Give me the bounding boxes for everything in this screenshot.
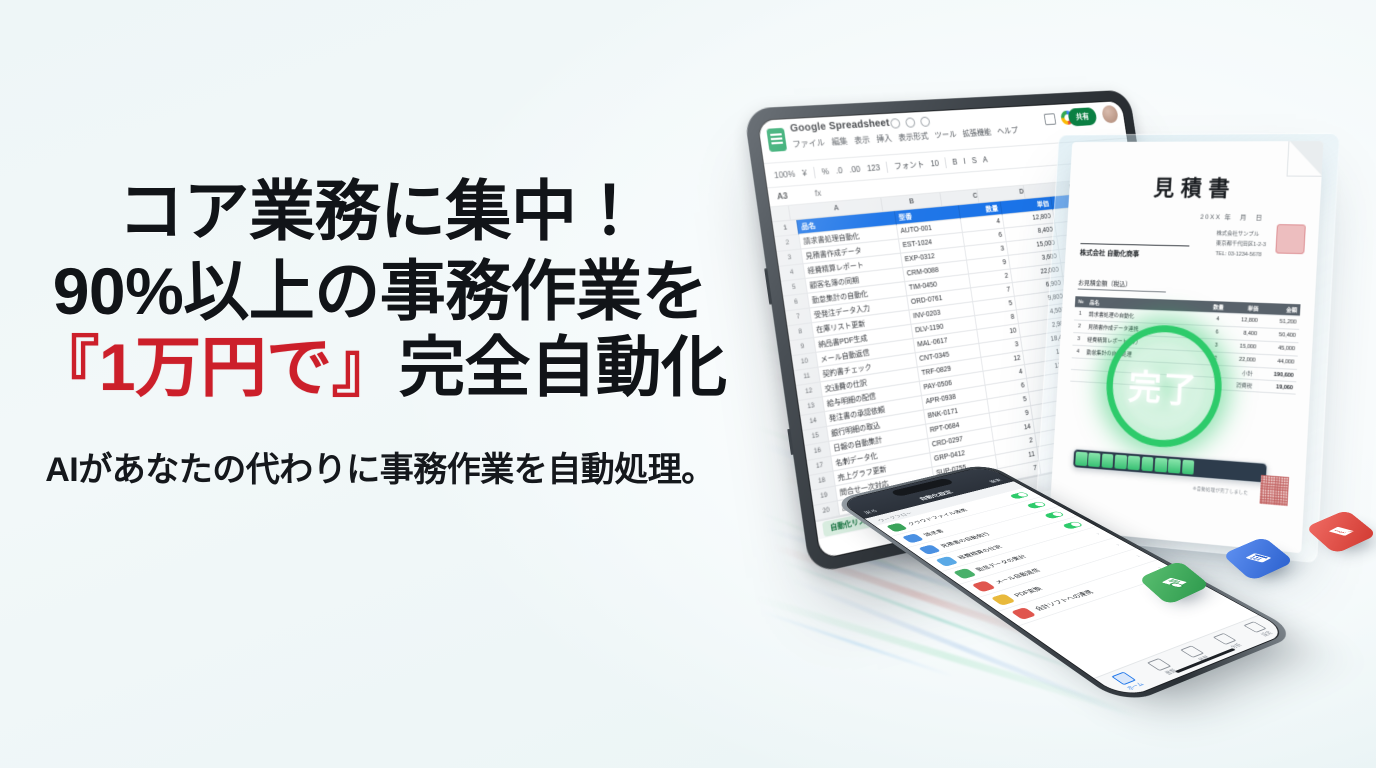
summary-label: 消費税 [1213,379,1257,390]
column-header[interactable]: A [789,198,883,221]
toggle-switch[interactable] [1009,492,1030,500]
phone-tab[interactable]: 分析 [1212,633,1245,650]
table-cell[interactable]: 顧客名簿の同期 [806,268,906,294]
toolbar-item[interactable]: フォント [893,158,925,171]
table-cell[interactable]: 納品書PDF生成 [814,325,913,353]
progress-segment [1128,456,1141,471]
subheadline: AIがあなたの代わりに事務作業を自動処理。 [0,442,760,491]
headline-tail: 完全自動化 [399,334,727,400]
table-cell[interactable]: RPT-0684 [926,413,992,439]
toolbar-item[interactable]: % [821,166,829,176]
present-icon[interactable] [1044,113,1057,125]
phone-tab[interactable]: 書類 [1147,658,1181,677]
doc-search-glyph [1164,577,1184,586]
invoice-summary-row: 消費税19,060 [1070,370,1296,395]
menu-item[interactable]: ファイル [792,137,826,150]
row-number[interactable]: 11 [794,368,821,387]
table-cell[interactable]: CRD-0297 [928,427,994,453]
toolbar-divider [886,161,889,172]
headline-price-accent: 『1万円で』 [33,334,397,400]
line-item-cell: 6 [1206,329,1228,336]
menu-item[interactable]: ツール [934,129,957,141]
phone-tab[interactable]: 設定 [1243,621,1276,638]
table-header-cell[interactable]: 型番 [895,205,961,225]
hero-copy: コア業務に集中！ 90%以上の事務作業を 『1万円で』 完全自動化 AIがあなた… [0,178,760,491]
table-cell[interactable]: 請求書処理自動化 [799,225,899,249]
progress-segment [1114,455,1127,470]
line-item-cell: 3 [1205,342,1227,349]
cloud-icon [920,116,931,126]
app-icon [1011,607,1037,620]
line-item-header-cell: 数量 [1208,302,1230,311]
toggle-switch[interactable] [1043,511,1065,519]
table-cell[interactable]: EXP-0312 [901,247,967,268]
table-cell[interactable]: AUTO-001 [897,219,963,239]
row-number[interactable]: 16 [805,442,832,461]
row-number[interactable]: 6 [783,294,810,312]
invoice-title: 見積書 [1069,171,1322,205]
line-item-header-cell: 単価 [1229,303,1262,312]
progress-segment [1182,460,1195,475]
table-cell[interactable]: メール自動返信 [816,339,915,368]
formula-fx-icon: fx [814,188,822,198]
table-cell[interactable]: 給与明細の配信 [823,382,922,412]
pdf-glyph: PDF [1331,526,1351,535]
app-icon [886,523,908,533]
app-icon [918,545,941,555]
progress-segment [1251,465,1265,480]
headline-line-1: コア業務に集中！ [0,178,760,244]
line-item-cell: 2 [1073,323,1085,329]
toggle-switch[interactable] [1061,521,1083,530]
invoice-total: お見積金額（税込） [1078,277,1167,293]
toolbar-item[interactable]: 123 [866,163,880,173]
menu-item[interactable]: 表示 [854,134,871,146]
line-item-cell: 4 [1072,349,1084,355]
total-label: お見積金額（税込） [1078,280,1132,289]
column-header[interactable]: B [881,193,942,212]
tab-label: 設定 [1258,630,1276,638]
menu-item[interactable]: ヘルプ [996,125,1018,137]
invoice-document: 見積書 20XX 年 月 日 株式会社 自動化商事 株式会社サンプル東京都千代田… [1049,141,1324,553]
table-cell[interactable]: MAL-0617 [914,330,980,353]
table-cell[interactable]: EST-1024 [899,233,965,254]
row-number[interactable]: 17 [807,457,834,476]
menu-item[interactable]: 表示形式 [898,131,929,144]
table-cell[interactable]: 交通費の仕訳 [821,367,920,397]
table-cell[interactable]: PAY-0506 [920,372,986,396]
menu-item[interactable]: 拡張機能 [962,127,992,140]
toolbar-item[interactable]: ¥ [802,168,808,178]
progress-segment [1088,453,1101,468]
sheets-logo-icon [766,128,787,152]
table-cell[interactable]: 経費精算レポート [804,254,904,279]
toolbar-item[interactable]: B [952,157,958,166]
titlebar-icon-group [890,116,931,128]
progress-segment [1168,459,1181,474]
star-icon[interactable] [890,118,901,129]
row-number[interactable]: 8 [787,323,814,341]
line-item-header-cell: № [1075,299,1087,305]
table-cell[interactable]: TRF-0829 [918,358,984,382]
progress-segment [1223,463,1236,478]
chevron-right-icon: › [1114,543,1121,547]
calculator-glyph [1247,553,1268,563]
table-cell[interactable]: 日報の自動集計 [829,425,928,457]
recipient-underline [1080,231,1190,247]
row-number[interactable]: 10 [792,353,819,371]
toolbar-divider [813,166,816,178]
line-item-cell: 12,800 [1228,317,1261,324]
progress-segment [1141,457,1154,472]
row-number[interactable]: 19 [811,486,838,506]
progress-segment [1101,454,1114,469]
invoice-recipient: 株式会社 自動化商事 [1080,231,1191,261]
spreadsheet-menubar[interactable]: ファイル編集表示挿入表示形式ツール拡張機能ヘルプ [792,125,1019,150]
table-cell[interactable]: 契約書チェック [819,353,918,382]
progress-segment [1209,462,1222,477]
row-number[interactable]: 15 [803,427,830,446]
row-number[interactable]: 1 [772,220,799,237]
app-icon [953,568,977,579]
toolbar-item[interactable]: 10 [930,158,939,168]
cell-reference[interactable]: A3 [776,190,806,202]
recipient-name: 株式会社 自動化商事 [1080,248,1190,260]
table-cell[interactable]: 受発注データ入力 [810,296,909,323]
table-cell[interactable]: 発注書の承認依頼 [825,396,924,427]
invoice-issuer: 株式会社サンプル東京都千代田区1-2-3TEL: 03-1234-5678 [1215,229,1267,261]
share-button[interactable]: 共有 [1067,107,1097,126]
toolbar-item[interactable]: I [963,156,966,165]
toolbar-item[interactable]: .00 [849,164,861,174]
app-icon [902,533,924,543]
row-number[interactable]: 18 [809,471,836,491]
toolbar-divider [944,157,947,168]
toolbar-item[interactable]: .0 [835,165,843,175]
line-item-cell: 45,000 [1259,345,1298,353]
hero-banner: コア業務に集中！ 90%以上の事務作業を 『1万円で』 完全自動化 AIがあなた… [0,0,1376,768]
row-number[interactable]: 5 [781,279,808,297]
data-stream [764,611,955,678]
line-item-cell: 8,400 [1227,330,1260,337]
line-item-cell: 2 [1205,355,1227,362]
row-number[interactable]: 3 [777,249,804,266]
app-icon [991,594,1016,606]
hanko-stamp-icon [1275,224,1306,254]
table-cell[interactable]: 見積書作成データ [801,239,901,264]
table-cell[interactable]: 銀行明細の取込 [827,410,926,441]
line-item-cell: 1 [1074,311,1086,317]
table-cell[interactable]: INV-0203 [909,302,975,325]
headline-line-2: 90%以上の事務作業を [0,258,760,324]
table-cell[interactable]: TIM-0450 [905,274,971,296]
device-scene: Google Spreadsheet ファイル編集表示挿入表示形式ツール拡張機能… [735,0,1376,768]
line-item-cell: 50,400 [1260,331,1299,339]
table-cell[interactable]: BNK-0171 [924,399,990,424]
row-number[interactable]: 4 [779,264,806,282]
grid-corner [770,206,791,222]
phone-tab[interactable]: ホーム [1110,671,1146,691]
invoice-date: 20XX 年 月 日 [1068,209,1264,222]
row-number[interactable]: 12 [796,382,823,401]
avatar[interactable] [1101,105,1119,123]
line-item-cell: 3 [1073,336,1085,342]
menu-item[interactable]: 編集 [831,136,848,148]
row-number[interactable]: 2 [775,235,802,252]
move-icon[interactable] [905,117,916,128]
toggle-switch[interactable] [1026,501,1048,509]
chevron-right-icon: › [1095,532,1102,535]
toolbar-item[interactable]: A [982,155,988,164]
chevron-right-icon: › [1135,555,1142,559]
line-item-cell: 4 [1207,316,1229,323]
toolbar-item[interactable]: S [971,156,977,165]
progress-segment [1237,464,1250,479]
toolbar-item[interactable]: 100% [773,169,795,180]
issuer-line: 東京都千代田区1-2-3 [1216,239,1267,250]
row-number[interactable]: 20 [813,501,840,521]
menu-item[interactable]: 挿入 [876,133,893,145]
issuer-line: 株式会社サンプル [1216,229,1267,240]
issuer-line: TEL: 03-1234-5678 [1215,249,1266,260]
table-cell[interactable]: 在庫リスト更新 [812,310,911,338]
table-cell[interactable]: CNT-0345 [916,344,982,368]
app-icon [935,556,958,567]
row-number[interactable]: 7 [785,308,812,326]
table-cell[interactable]: CRM-0088 [903,261,969,282]
table-cell[interactable]: ORD-0761 [907,288,973,310]
progress-segment [1195,461,1208,476]
progress-note: ※自動処理が完了しました [1193,486,1249,497]
row-number[interactable]: 13 [798,397,825,416]
table-cell[interactable]: DLV-1190 [912,316,978,339]
spreadsheet-title: Google Spreadsheet [789,118,890,135]
invoice-line-items: №品名数量単価金額1請求書処理の自動化412,80051,2002見積書作成デー… [1070,296,1300,394]
summary-label: 小計 [1214,367,1258,377]
line-item-cell: 22,000 [1226,356,1259,364]
row-number[interactable]: 14 [800,412,827,431]
headline-line-3: 『1万円で』 完全自動化 [0,334,760,400]
table-cell[interactable]: APR-0938 [922,386,988,411]
app-icon [971,581,996,593]
line-item-header-cell: 金額 [1261,304,1300,314]
table-cell[interactable]: 名刺データ化 [831,439,930,472]
table-cell[interactable]: 勤怠集計の自動化 [808,282,907,308]
table-header-cell[interactable]: 品名 [797,211,897,235]
progress-segment [1075,452,1087,467]
line-item-cell: 15,000 [1227,343,1260,351]
row-number[interactable]: 9 [790,338,817,356]
invoice-paper: 見積書 20XX 年 月 日 株式会社 自動化商事 株式会社サンプル東京都千代田… [1049,141,1324,553]
